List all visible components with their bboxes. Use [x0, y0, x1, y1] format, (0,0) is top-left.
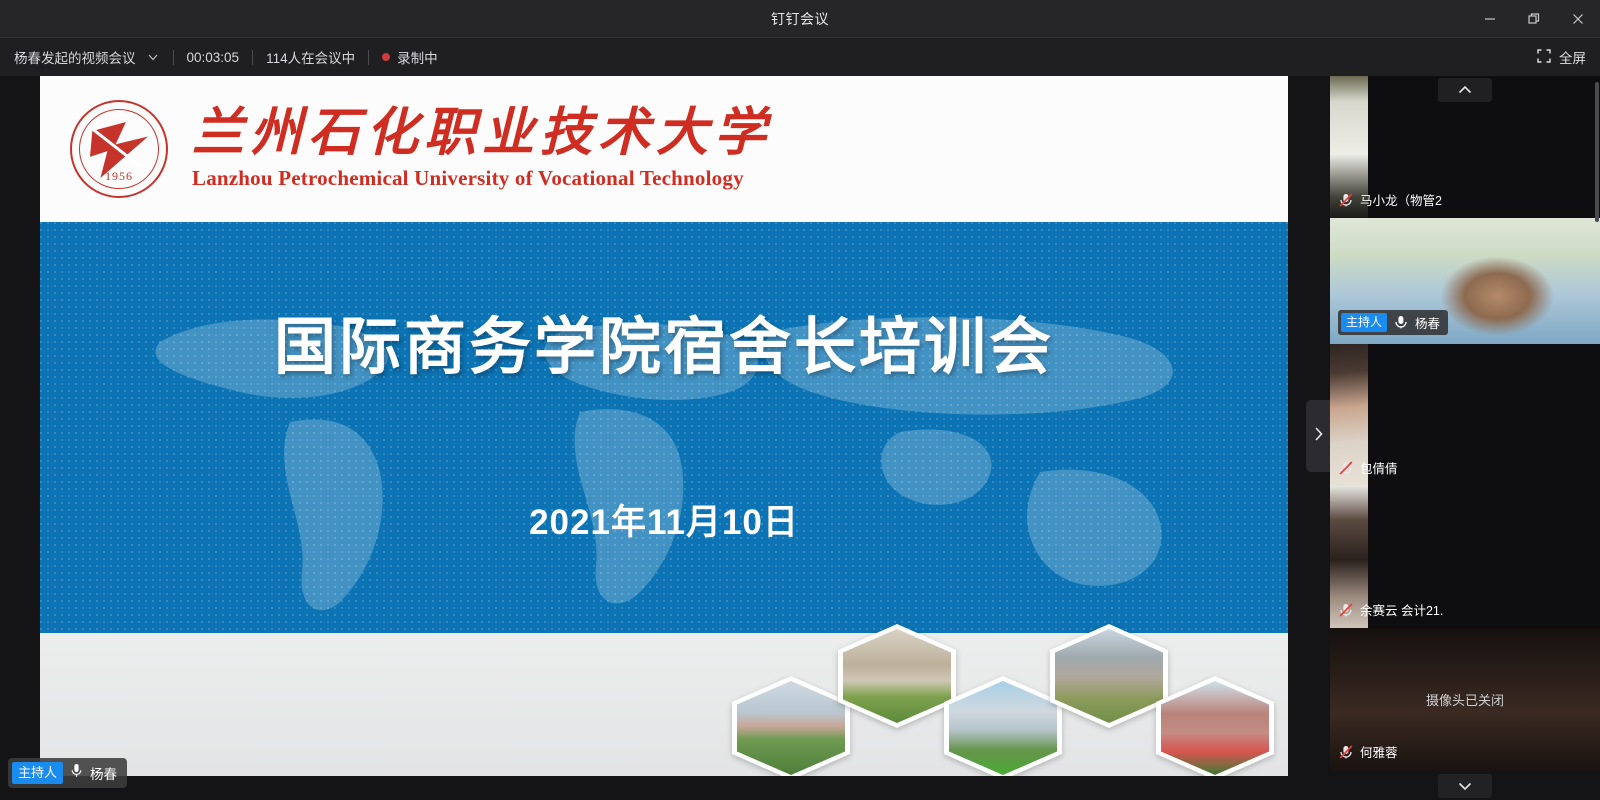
fullscreen-icon: [1537, 49, 1551, 66]
host-tag: 主持人: [1341, 313, 1387, 332]
slide-date: 2021年11月10日: [40, 494, 1288, 545]
campus-photo-parade: [732, 676, 850, 776]
participant-name: 杨春: [1415, 313, 1440, 332]
title-bar: 钉钉会议: [0, 0, 1600, 38]
participant-name: 马小龙（物管2: [1360, 190, 1442, 209]
microphone-muted-icon: [1338, 192, 1354, 208]
participant-name-row: 何雅蓉: [1338, 742, 1398, 761]
shared-screen-stage: 1956 兰州石化职业技术大学 Lanzhou Petrochemical Un…: [0, 76, 1330, 800]
participant-name-row: 主持人 杨春: [1338, 310, 1448, 335]
meeting-timer: 00:03:05: [187, 50, 240, 65]
chevron-down-icon[interactable]: [146, 50, 160, 64]
recording-label: 录制中: [397, 47, 438, 67]
world-map-background: [40, 222, 1288, 633]
microphone-muted-icon: [1338, 602, 1354, 618]
participant-tile-active[interactable]: 主持人 杨春: [1330, 218, 1600, 344]
participant-name-row: 包倩倩: [1338, 458, 1398, 477]
fullscreen-label: 全屏: [1559, 47, 1586, 67]
host-tag: 主持人: [12, 762, 63, 784]
chevron-up-icon[interactable]: [1438, 78, 1492, 102]
campus-photo-tower-building: [1050, 624, 1168, 728]
microphone-icon: [1393, 314, 1409, 330]
slide-blue-band: 国际商务学院宿舍长培训会 2021年11月10日: [40, 222, 1288, 633]
dingtalk-meeting-window: 钉钉会议 杨春发起的视频会议 00:0: [0, 0, 1600, 800]
close-icon[interactable]: [1556, 0, 1600, 38]
slide-header: 1956 兰州石化职业技术大学 Lanzhou Petrochemical Un…: [40, 76, 1288, 222]
recording-dot-icon: [382, 53, 390, 61]
window-title: 钉钉会议: [771, 9, 829, 29]
slide-title: 国际商务学院宿舍长培训会: [40, 296, 1288, 386]
participant-tile[interactable]: 余赛云 会计21.: [1330, 486, 1600, 628]
participant-count[interactable]: 114人在会议中: [266, 47, 355, 67]
university-name-en: Lanzhou Petrochemical University of Voca…: [192, 166, 772, 191]
participant-rail[interactable]: 马小龙（物管2 主持人 杨春: [1330, 76, 1600, 800]
minimize-icon[interactable]: [1468, 0, 1512, 38]
microphone-muted-icon: [1338, 460, 1354, 476]
participant-name-row: 余赛云 会计21.: [1338, 600, 1443, 619]
meeting-title[interactable]: 杨春发起的视频会议: [14, 47, 136, 67]
divider: [173, 50, 174, 65]
microphone-muted-icon: [1338, 744, 1354, 760]
campus-photo-stone-garden: [838, 624, 956, 728]
participant-tile[interactable]: 摄像头已关闭 何雅蓉: [1330, 628, 1600, 770]
university-name-cn: 兰州石化职业技术大学: [192, 107, 772, 162]
restore-icon[interactable]: [1512, 0, 1556, 38]
campus-photo-flowers: [1156, 676, 1274, 776]
campus-photo-dormitory: [944, 676, 1062, 776]
active-speaker-badge: 主持人 杨春: [8, 758, 127, 788]
participant-name: 包倩倩: [1360, 458, 1398, 477]
collapse-panel-button[interactable]: [1306, 400, 1330, 472]
rail-scrollbar[interactable]: [1595, 82, 1599, 222]
recording-status: 录制中: [382, 47, 438, 67]
microphone-icon: [70, 763, 83, 783]
participant-name-row: 马小龙（物管2: [1338, 190, 1442, 209]
chevron-down-icon[interactable]: [1438, 774, 1492, 798]
slide-footer: [40, 633, 1288, 776]
meeting-info-bar: 杨春发起的视频会议 00:03:05 114人在会议中 录制中 全屏: [0, 38, 1600, 76]
chevron-right-icon: [1312, 424, 1325, 449]
fullscreen-button[interactable]: 全屏: [1537, 38, 1586, 76]
university-wordmark: 兰州石化职业技术大学 Lanzhou Petrochemical Univers…: [192, 107, 772, 191]
presentation-slide: 1956 兰州石化职业技术大学 Lanzhou Petrochemical Un…: [40, 76, 1288, 776]
participant-tile[interactable]: 包倩倩: [1330, 344, 1600, 486]
divider: [368, 50, 369, 65]
divider: [252, 50, 253, 65]
window-controls: [1468, 0, 1600, 38]
participant-name: 何雅蓉: [1360, 742, 1398, 761]
campus-photo-row: [744, 624, 1274, 776]
participant-name: 余赛云 会计21.: [1360, 600, 1443, 619]
university-logo-icon: 1956: [70, 100, 168, 198]
speaker-name: 杨春: [90, 763, 117, 783]
logo-year: 1956: [72, 169, 166, 184]
